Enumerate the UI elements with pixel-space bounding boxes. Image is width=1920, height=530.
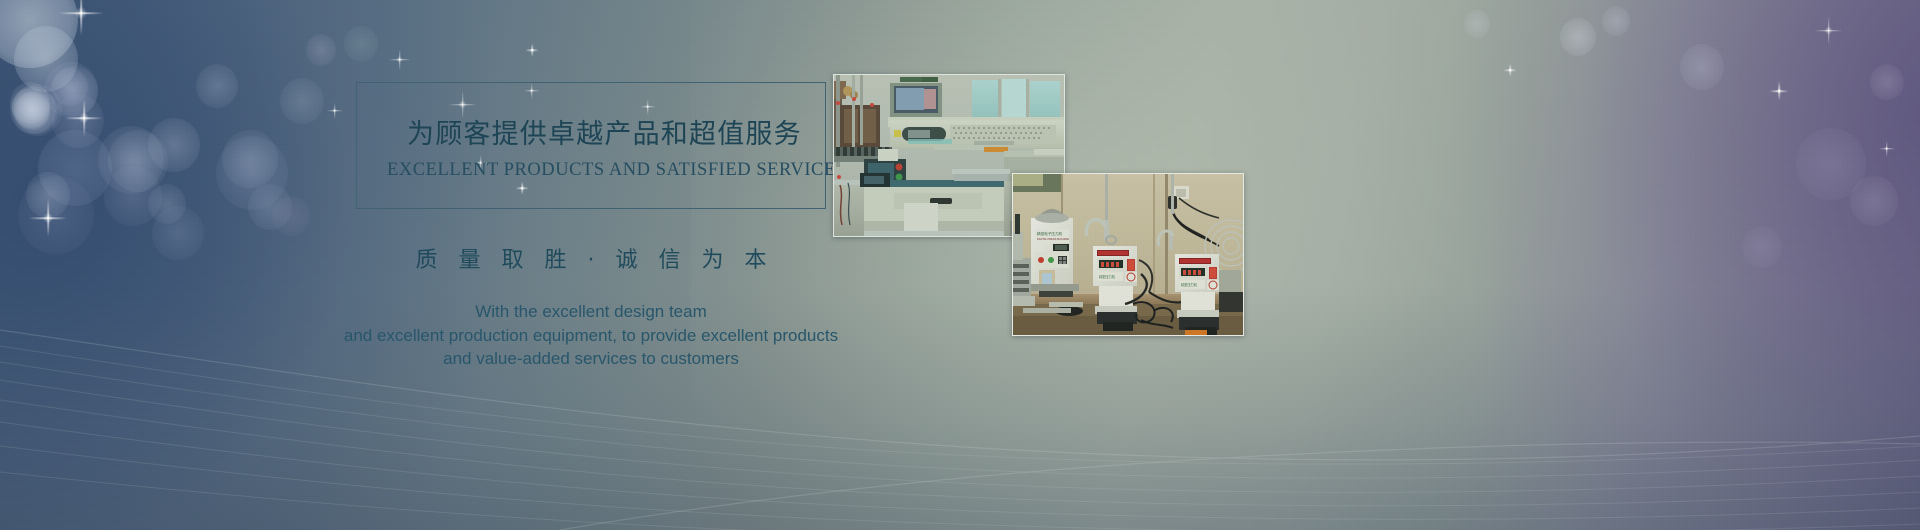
background-noise-overlay [0,0,1920,530]
hero-banner: 为顾客提供卓越产品和超值服务 EXCELLENT PRODUCTS AND SA… [0,0,1920,530]
